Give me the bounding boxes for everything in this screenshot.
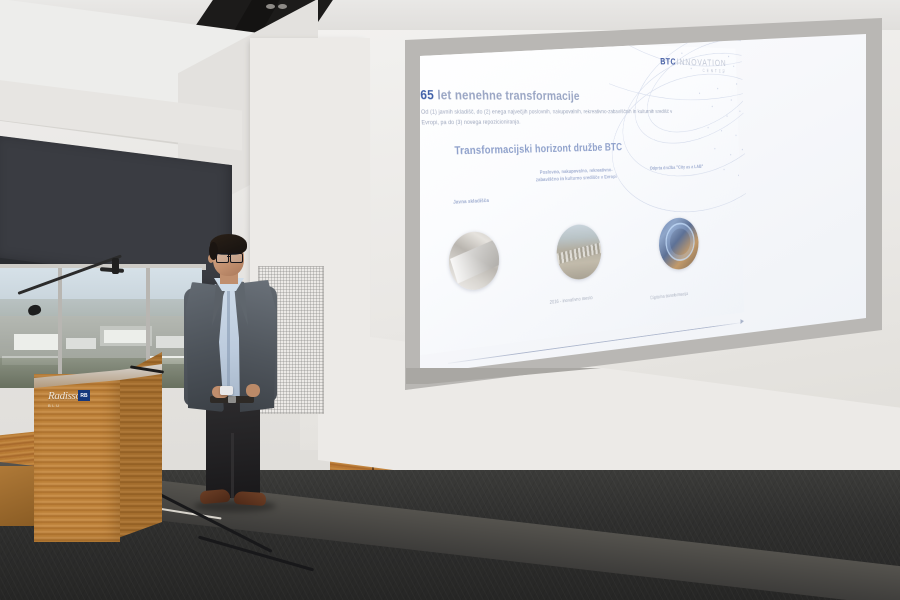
microphone-mount-clip	[112, 258, 119, 274]
ceiling-spotlight-icon	[266, 4, 275, 9]
radisson-blu-subtext: BLU	[48, 403, 106, 408]
btc-innovation-center-logo: BTC INNOVATION CENTER	[660, 58, 727, 75]
timeline-caption-3: Digitalna transformacija	[650, 292, 688, 301]
conference-room-scene: BTC INNOVATION CENTER 65 let nenehne tra…	[0, 0, 900, 600]
digital-transformation-photo	[658, 217, 699, 272]
timeline-label-2: Poslovno, nakupovalno, rekreativno-zabav…	[533, 167, 620, 185]
radisson-blu-badge: RB	[78, 390, 90, 401]
presenter-shoe-left	[199, 489, 230, 505]
slide-title: 65 let nenehne transformacije	[420, 87, 580, 103]
radisson-blu-badge-text: RB	[80, 393, 87, 399]
timeline-column-1: Javna skladišča	[421, 196, 519, 209]
timeline-column-2: Poslovno, nakupovalno, rekreativno-zabav…	[533, 167, 620, 185]
logo-innovation-text: INNOVATION	[676, 58, 726, 68]
presenter-shirt-placket	[227, 286, 230, 390]
building	[66, 338, 96, 349]
timeline-label-1: Javna skladišča	[421, 196, 519, 209]
warehouse-photo	[448, 230, 500, 292]
presentation-clicker[interactable]	[220, 386, 233, 395]
slide-sheet: BTC INNOVATION CENTER 65 let nenehne tra…	[397, 36, 744, 357]
eyeglasses-icon	[216, 253, 242, 261]
ceiling-spotlight-icon	[278, 4, 287, 9]
eyeglass-lens-left	[216, 253, 229, 263]
aerial-city-photo	[556, 223, 602, 281]
projection-screen: BTC INNOVATION CENTER 65 let nenehne tra…	[352, 18, 882, 398]
presenter	[176, 228, 288, 520]
timeline-columns: Javna skladišča Poslovno, nakupovalno, r…	[420, 163, 738, 347]
timeline-arrow-tip-icon	[740, 319, 744, 324]
building	[14, 334, 60, 350]
radisson-blu-logo: Radisson BLU	[48, 390, 106, 408]
timeline-column-3: Odprta družba "City as a LAB"	[638, 163, 715, 173]
podium-side-panel	[118, 352, 162, 538]
slide-title-number: 65	[420, 87, 434, 103]
timeline-label-3: Odprta družba "City as a LAB"	[638, 163, 715, 173]
radisson-wordmark: Radisson	[48, 390, 106, 402]
chair-edge	[0, 466, 36, 526]
timeline-caption-2: 2016 - inovativno mesto	[550, 296, 593, 306]
slide-title-text: let nenehne transformacije	[434, 87, 580, 103]
eyeglass-lens-right	[230, 253, 243, 263]
slide-subtitle: Od (1) javnih skladišč, do (2) enega naj…	[421, 108, 679, 128]
logo-btc-text: BTC	[660, 58, 676, 68]
presenter-leg-separation	[231, 433, 234, 499]
presenter-hand-right	[246, 384, 260, 397]
presenter-shoe-right	[234, 491, 267, 506]
presenter-belt-buckle	[228, 396, 236, 403]
lectern-podium: Radisson BLU RB	[34, 352, 162, 542]
building	[104, 330, 148, 343]
